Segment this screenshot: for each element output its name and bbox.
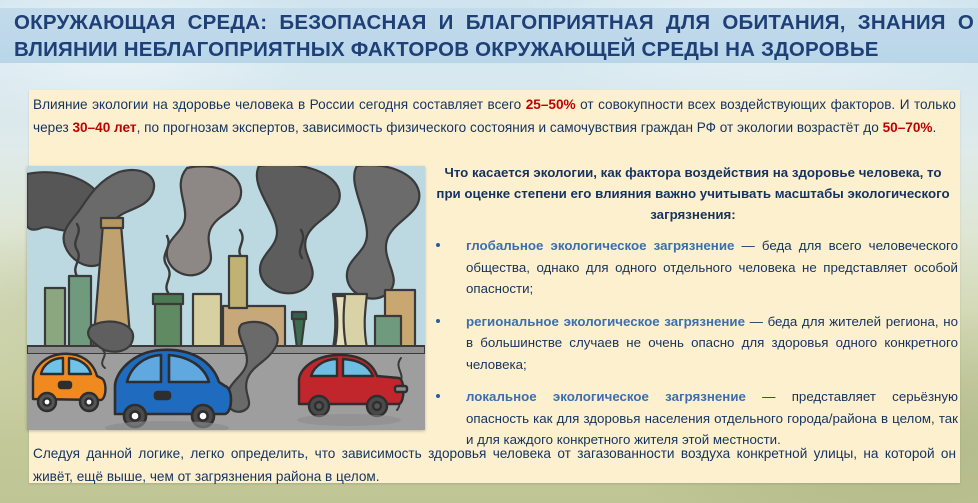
intro-text-part-3: , по прогнозам экспертов, зависимость фи… [137,120,883,135]
list-item: локальное экологическое загрязнение — пр… [428,386,958,451]
bullet-dot-icon [436,319,440,323]
pollution-scale-list: глобальное экологическое загрязнение — б… [428,235,958,451]
outro-paragraph: Следуя данной логике, легко определить, … [33,443,956,488]
right-column: Что касается экологии, как фактора возде… [428,162,958,462]
intro-paragraph: Влияние экологии на здоровье человека в … [33,94,956,139]
bullet-dot-icon [436,243,440,247]
list-item: глобальное экологическое загрязнение — б… [428,235,958,300]
bullet-term: региональное экологическое загрязнение [466,314,745,329]
intro-highlight-3: 50–70% [883,120,933,135]
bullet-dot-icon [436,394,440,398]
intro-text-part-1: Влияние экологии на здоровье человека в … [33,97,526,112]
bullet-term: глобальное экологическое загрязнение [466,238,734,253]
list-item: региональное экологическое загрязнение —… [428,311,958,376]
intro-highlight-2: 30–40 лет [72,120,136,135]
right-column-heading: Что касается экологии, как фактора возде… [428,162,958,225]
intro-text-part-4: . [932,120,936,135]
page-header-band: ОКРУЖАЮЩАЯ СРЕДА: БЕЗОПАСНАЯ И БЛАГОПРИЯ… [0,8,978,63]
intro-highlight-1: 25–50% [526,97,576,112]
pollution-illustration [27,166,425,430]
bullet-term: локальное экологическое загрязнение [466,389,746,404]
page-title: ОКРУЖАЮЩАЯ СРЕДА: БЕЗОПАСНАЯ И БЛАГОПРИЯ… [0,9,978,63]
